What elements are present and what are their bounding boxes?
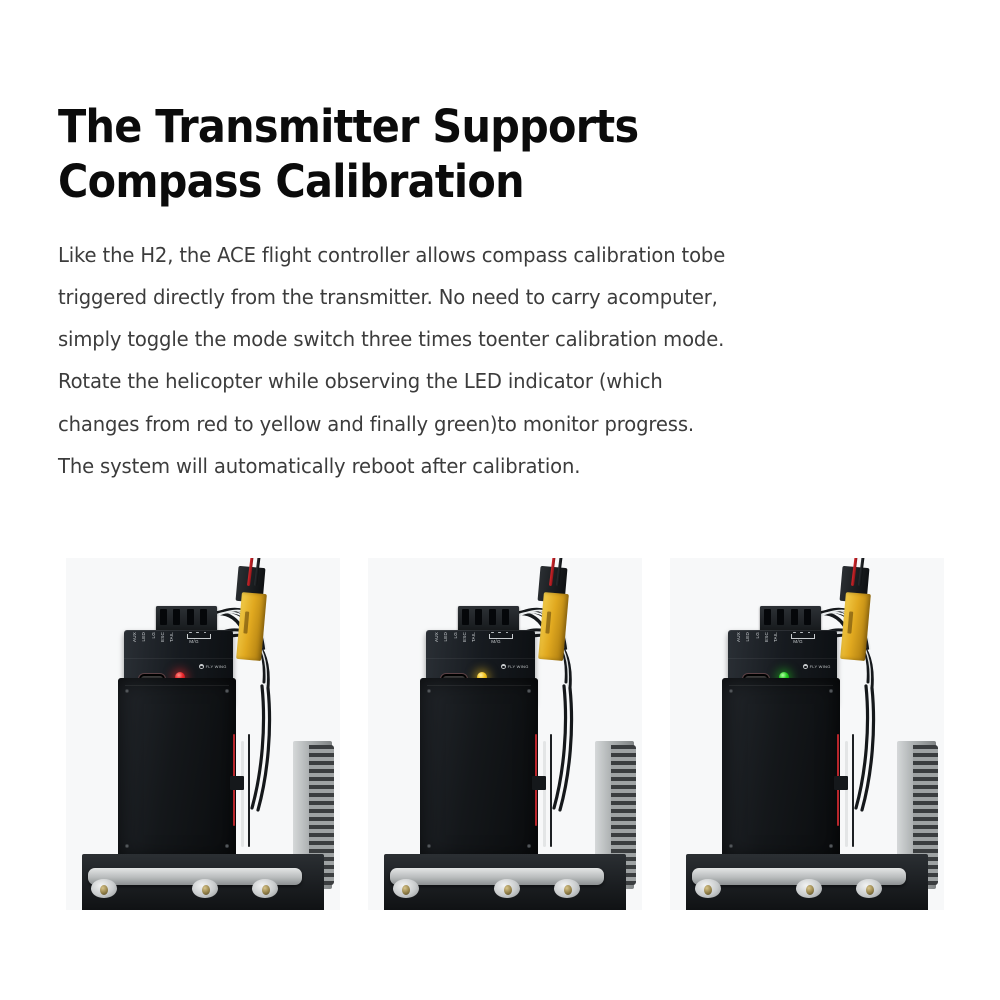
port-label-mg: M/G	[491, 639, 501, 644]
port-label-aux: AUX	[737, 632, 742, 642]
connector-slot	[502, 609, 509, 625]
port-label-group: AUX LED LG ESC TAIL	[737, 632, 778, 643]
body-screw	[527, 844, 531, 848]
page-title: The Transmitter Supports Compass Calibra…	[58, 100, 877, 210]
photo-panel-green-led[interactable]: AUX LED LG ESC TAIL M/G	[670, 558, 944, 910]
connector-slot	[777, 609, 784, 625]
connector-slot	[791, 609, 798, 625]
controller-body	[722, 678, 840, 861]
port-label-group: AUX LED LG ESC TAIL	[133, 632, 174, 643]
controller-body	[420, 678, 538, 861]
service-wire-white	[241, 741, 243, 847]
port-label-esc: ESC	[463, 632, 468, 642]
body-screw	[729, 689, 733, 693]
port-label-mg: M/G	[793, 639, 803, 644]
port-label-group: AUX LED LG ESC TAIL	[435, 632, 476, 643]
body-screw	[729, 844, 733, 848]
label-strip: AUX LED LG ESC TAIL M/G	[728, 630, 838, 659]
port-label-mg: M/G	[189, 639, 199, 644]
skid-screw	[504, 885, 512, 896]
connector-slot	[173, 609, 180, 625]
xt-power-connector	[538, 592, 568, 661]
brand-name: FLY WING	[810, 664, 831, 669]
brand-logo: FLY WING	[199, 664, 226, 669]
brand-mark-icon	[501, 664, 506, 669]
cable-clip	[532, 776, 546, 790]
connector-slot	[475, 609, 482, 625]
article-body-text: Like the H2, the ACE flight controller a…	[58, 210, 908, 487]
brand-logo: FLY WING	[501, 664, 528, 669]
photo-panel-red-led[interactable]: AUX LED LG ESC TAIL M/G	[66, 558, 340, 910]
body-screw	[225, 689, 229, 693]
xt-power-connector	[236, 592, 266, 661]
port-label-led: LED	[444, 632, 449, 642]
label-strip: AUX LED LG ESC TAIL M/G	[124, 630, 234, 659]
body-screw	[427, 689, 431, 693]
port-label-tail: TAIL	[472, 632, 477, 642]
body-screw	[527, 689, 531, 693]
port-label-lg: LG	[756, 632, 761, 639]
body-screw	[125, 689, 129, 693]
port-label-led: LED	[142, 632, 147, 642]
body-screw	[829, 844, 833, 848]
image-gallery: AUX LED LG ESC TAIL M/G	[66, 558, 944, 910]
service-wire-white	[845, 741, 847, 847]
flight-controller-photo: AUX LED LG ESC TAIL M/G	[670, 558, 944, 910]
brand-name: FLY WING	[508, 664, 529, 669]
cable-clip	[834, 776, 848, 790]
xt-power-connector	[840, 592, 870, 661]
port-label-esc: ESC	[161, 632, 166, 642]
cable-clip	[230, 776, 244, 790]
connector-slot	[187, 609, 194, 625]
article-content: The Transmitter Supports Compass Calibra…	[58, 100, 948, 487]
port-label-tail: TAIL	[774, 632, 779, 642]
photo-panel-yellow-led[interactable]: AUX LED LG ESC TAIL M/G	[368, 558, 642, 910]
skid-screw	[202, 885, 210, 896]
port-label-lg: LG	[454, 632, 459, 639]
port-label-lg: LG	[152, 632, 157, 639]
flight-controller-photo: AUX LED LG ESC TAIL M/G	[368, 558, 642, 910]
brand-logo: FLY WING	[803, 664, 830, 669]
service-wire-white	[543, 741, 545, 847]
skid-screw	[806, 885, 814, 896]
connector-slot	[489, 609, 496, 625]
connector-slot	[200, 609, 207, 625]
brand-mark-icon	[199, 664, 204, 669]
port-label-led: LED	[746, 632, 751, 642]
port-label-tail: TAIL	[170, 632, 175, 642]
connector-slot	[804, 609, 811, 625]
body-screw	[427, 844, 431, 848]
body-screw	[125, 844, 129, 848]
flight-controller-photo: AUX LED LG ESC TAIL M/G	[66, 558, 340, 910]
brand-name: FLY WING	[206, 664, 227, 669]
controller-body	[118, 678, 236, 861]
port-label-aux: AUX	[133, 632, 138, 642]
body-screw	[829, 689, 833, 693]
connector-slot	[764, 609, 771, 625]
brand-mark-icon	[803, 664, 808, 669]
port-label-aux: AUX	[435, 632, 440, 642]
port-label-esc: ESC	[765, 632, 770, 642]
label-strip: AUX LED LG ESC TAIL M/G	[426, 630, 536, 659]
connector-slot	[160, 609, 167, 625]
body-screw	[225, 844, 229, 848]
connector-slot	[462, 609, 469, 625]
